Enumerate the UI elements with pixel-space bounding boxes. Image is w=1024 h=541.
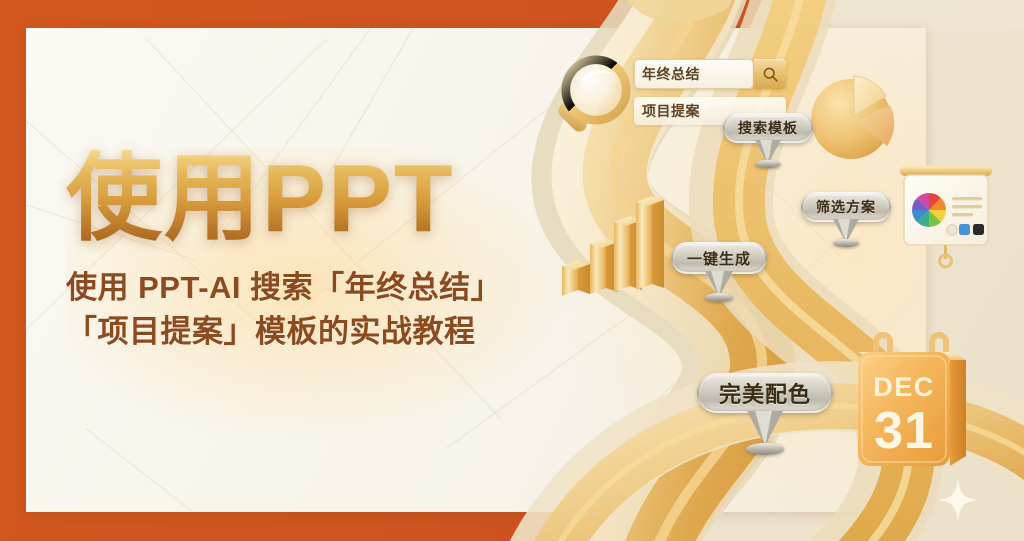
pin-perfect-colors[interactable]: 完美配色: [697, 373, 833, 413]
calendar-month-label: DEC: [873, 372, 935, 402]
pin-perfect-colors-label: 完美配色: [719, 377, 811, 409]
pin-base: [705, 293, 733, 302]
page-title: 使用PPT: [66, 150, 536, 248]
pin-one-click-generate-label: 一键生成: [687, 248, 751, 269]
subtitle-line-1: 使用 PPT-AI 搜索「年终总结」: [66, 266, 536, 310]
pin-one-click-generate[interactable]: 一键生成: [671, 242, 767, 274]
pie-chart-icon: [800, 66, 902, 168]
search-input[interactable]: 年终总结: [634, 59, 754, 89]
pin-base: [833, 239, 859, 247]
magnifier-glass-icon: [552, 54, 636, 146]
subtitle-line-2: 「项目提案」模板的实战教程: [66, 310, 536, 354]
presentation-board-icon: [896, 160, 996, 275]
pin-search-template-label: 搜索模板: [738, 118, 798, 138]
calendar-icon: DEC 31: [840, 330, 980, 480]
pin-search-template[interactable]: 搜索模板: [723, 113, 813, 143]
title-block: 使用PPT 使用 PPT-AI 搜索「年终总结」 「项目提案」模板的实战教程: [66, 150, 536, 354]
search-suggestion-label: 项目提案: [634, 101, 700, 121]
sparkle-icon: [938, 478, 978, 522]
pin-filter-plan[interactable]: 筛选方案: [801, 192, 891, 222]
bar-chart-icon: [556, 186, 668, 298]
search-button[interactable]: [754, 59, 786, 89]
pin-base: [746, 443, 784, 455]
search-input-value: 年终总结: [634, 64, 700, 84]
poster-stage: 年终总结 项目提案 使用PPT 使用 PPT-AI 搜索「年终总结」 「项目提案…: [0, 0, 1024, 541]
subtitle-block: 使用 PPT-AI 搜索「年终总结」 「项目提案」模板的实战教程: [66, 266, 536, 354]
pin-filter-plan-label: 筛选方案: [816, 197, 876, 217]
search-icon: [762, 66, 779, 83]
pin-base: [755, 160, 781, 168]
calendar-day-label: 31: [874, 402, 934, 460]
